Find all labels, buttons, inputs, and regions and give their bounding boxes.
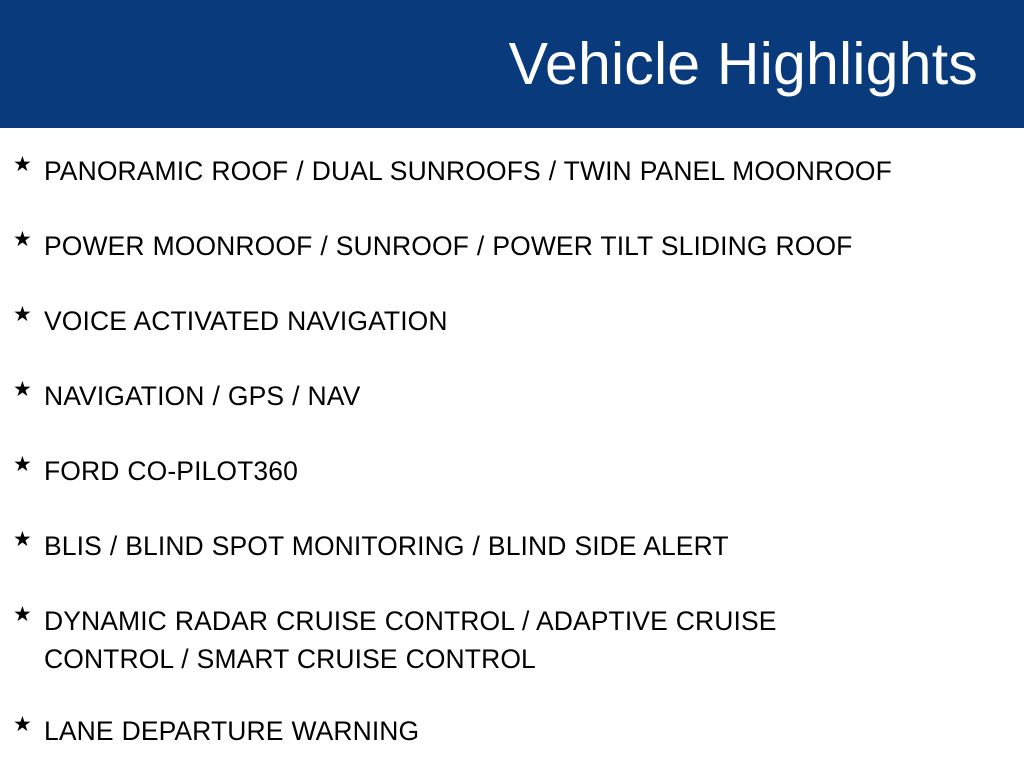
- list-item: ★ VOICE ACTIVATED NAVIGATION: [0, 278, 1024, 353]
- list-item: ★ BLIS / BLIND SPOT MONITORING / BLIND S…: [0, 503, 1024, 578]
- list-item: ★ PANORAMIC ROOF / DUAL SUNROOFS / TWIN …: [0, 128, 1024, 203]
- list-item: ★ FORD CO-PILOT360: [0, 428, 1024, 503]
- star-bullet-icon: ★: [13, 454, 33, 474]
- highlight-label: FORD CO-PILOT360: [44, 428, 1006, 490]
- header-bar: Vehicle Highlights: [0, 0, 1024, 128]
- list-item: ★ LANE DEPARTURE WARNING: [0, 688, 1024, 763]
- star-bullet-icon: ★: [13, 714, 33, 734]
- list-item: ★ DYNAMIC RADAR CRUISE CONTROL / ADAPTIV…: [0, 578, 1024, 688]
- highlight-label: POWER MOONROOF / SUNROOF / POWER TILT SL…: [44, 203, 1006, 265]
- star-bullet-icon: ★: [13, 229, 33, 249]
- list-item: ★ POWER MOONROOF / SUNROOF / POWER TILT …: [0, 203, 1024, 278]
- highlight-label: DYNAMIC RADAR CRUISE CONTROL / ADAPTIVE …: [44, 578, 874, 678]
- list-item: ★ NAVIGATION / GPS / NAV: [0, 353, 1024, 428]
- star-bullet-icon: ★: [13, 529, 33, 549]
- highlight-label: PANORAMIC ROOF / DUAL SUNROOFS / TWIN PA…: [44, 128, 1006, 190]
- star-bullet-icon: ★: [13, 604, 33, 624]
- highlight-label: VOICE ACTIVATED NAVIGATION: [44, 278, 1006, 340]
- star-bullet-icon: ★: [13, 304, 33, 324]
- page-title: Vehicle Highlights: [509, 34, 978, 94]
- highlight-label: BLIS / BLIND SPOT MONITORING / BLIND SID…: [44, 503, 1006, 565]
- vehicle-highlights-list: ★ PANORAMIC ROOF / DUAL SUNROOFS / TWIN …: [0, 128, 1024, 763]
- highlight-label: LANE DEPARTURE WARNING: [44, 688, 1006, 750]
- highlight-label: NAVIGATION / GPS / NAV: [44, 353, 1006, 415]
- star-bullet-icon: ★: [13, 379, 33, 399]
- star-bullet-icon: ★: [13, 154, 33, 174]
- vehicle-highlights-slide: Vehicle Highlights ★ PANORAMIC ROOF / DU…: [0, 0, 1024, 768]
